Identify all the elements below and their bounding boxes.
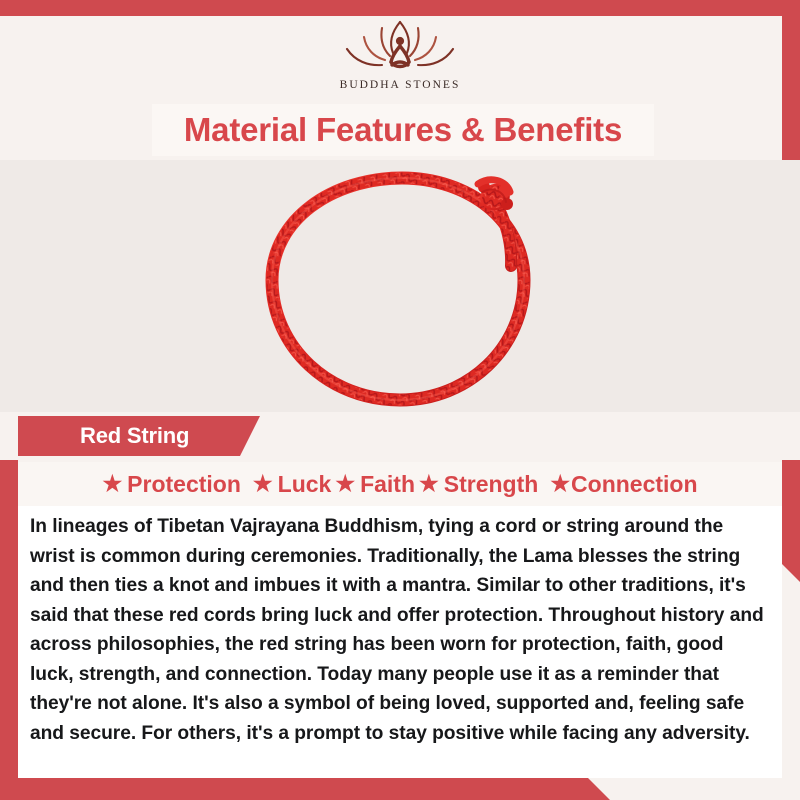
feature-label: Luck [278,471,332,498]
feature-item-connection: ★ Connection [550,471,697,498]
lotus-meditation-figure-icon [325,16,475,78]
description-panel: In lineages of Tibetan Vajrayana Buddhis… [18,506,782,778]
feature-item-strength: ★ Strength [419,471,538,498]
star-icon: ★ [253,473,273,495]
brand-block: BUDDHA STONES [0,16,800,104]
feature-label: Connection [571,471,698,498]
feature-item-protection: ★ Protection [102,471,240,498]
description-text: In lineages of Tibetan Vajrayana Buddhis… [30,512,764,748]
star-icon: ★ [550,473,570,495]
star-icon: ★ [335,473,355,495]
feature-list: ★ Protection ★ Luck ★ Faith ★ Strength ★… [18,462,782,506]
material-name: Red String [18,423,189,449]
infographic-page: BUDDHA STONES Material Features & Benefi… [0,0,800,800]
product-image-area [0,160,800,418]
star-icon: ★ [102,473,122,495]
brand-name: BUDDHA STONES [340,79,461,91]
star-icon: ★ [419,473,439,495]
feature-label: Strength [444,471,539,498]
material-ribbon: Red String [18,416,260,456]
material-label-row: Red String [0,412,800,460]
feature-item-luck: ★ Luck [253,471,331,498]
headline-band: Material Features & Benefits [152,104,654,156]
frame-bar-bottom [0,778,610,800]
feature-label: Faith [360,471,415,498]
frame-bar-top [0,0,800,16]
feature-item-faith: ★ Faith [335,471,415,498]
red-braided-string-bracelet-image [206,162,596,418]
feature-label: Protection [127,471,241,498]
page-title: Material Features & Benefits [184,111,622,149]
